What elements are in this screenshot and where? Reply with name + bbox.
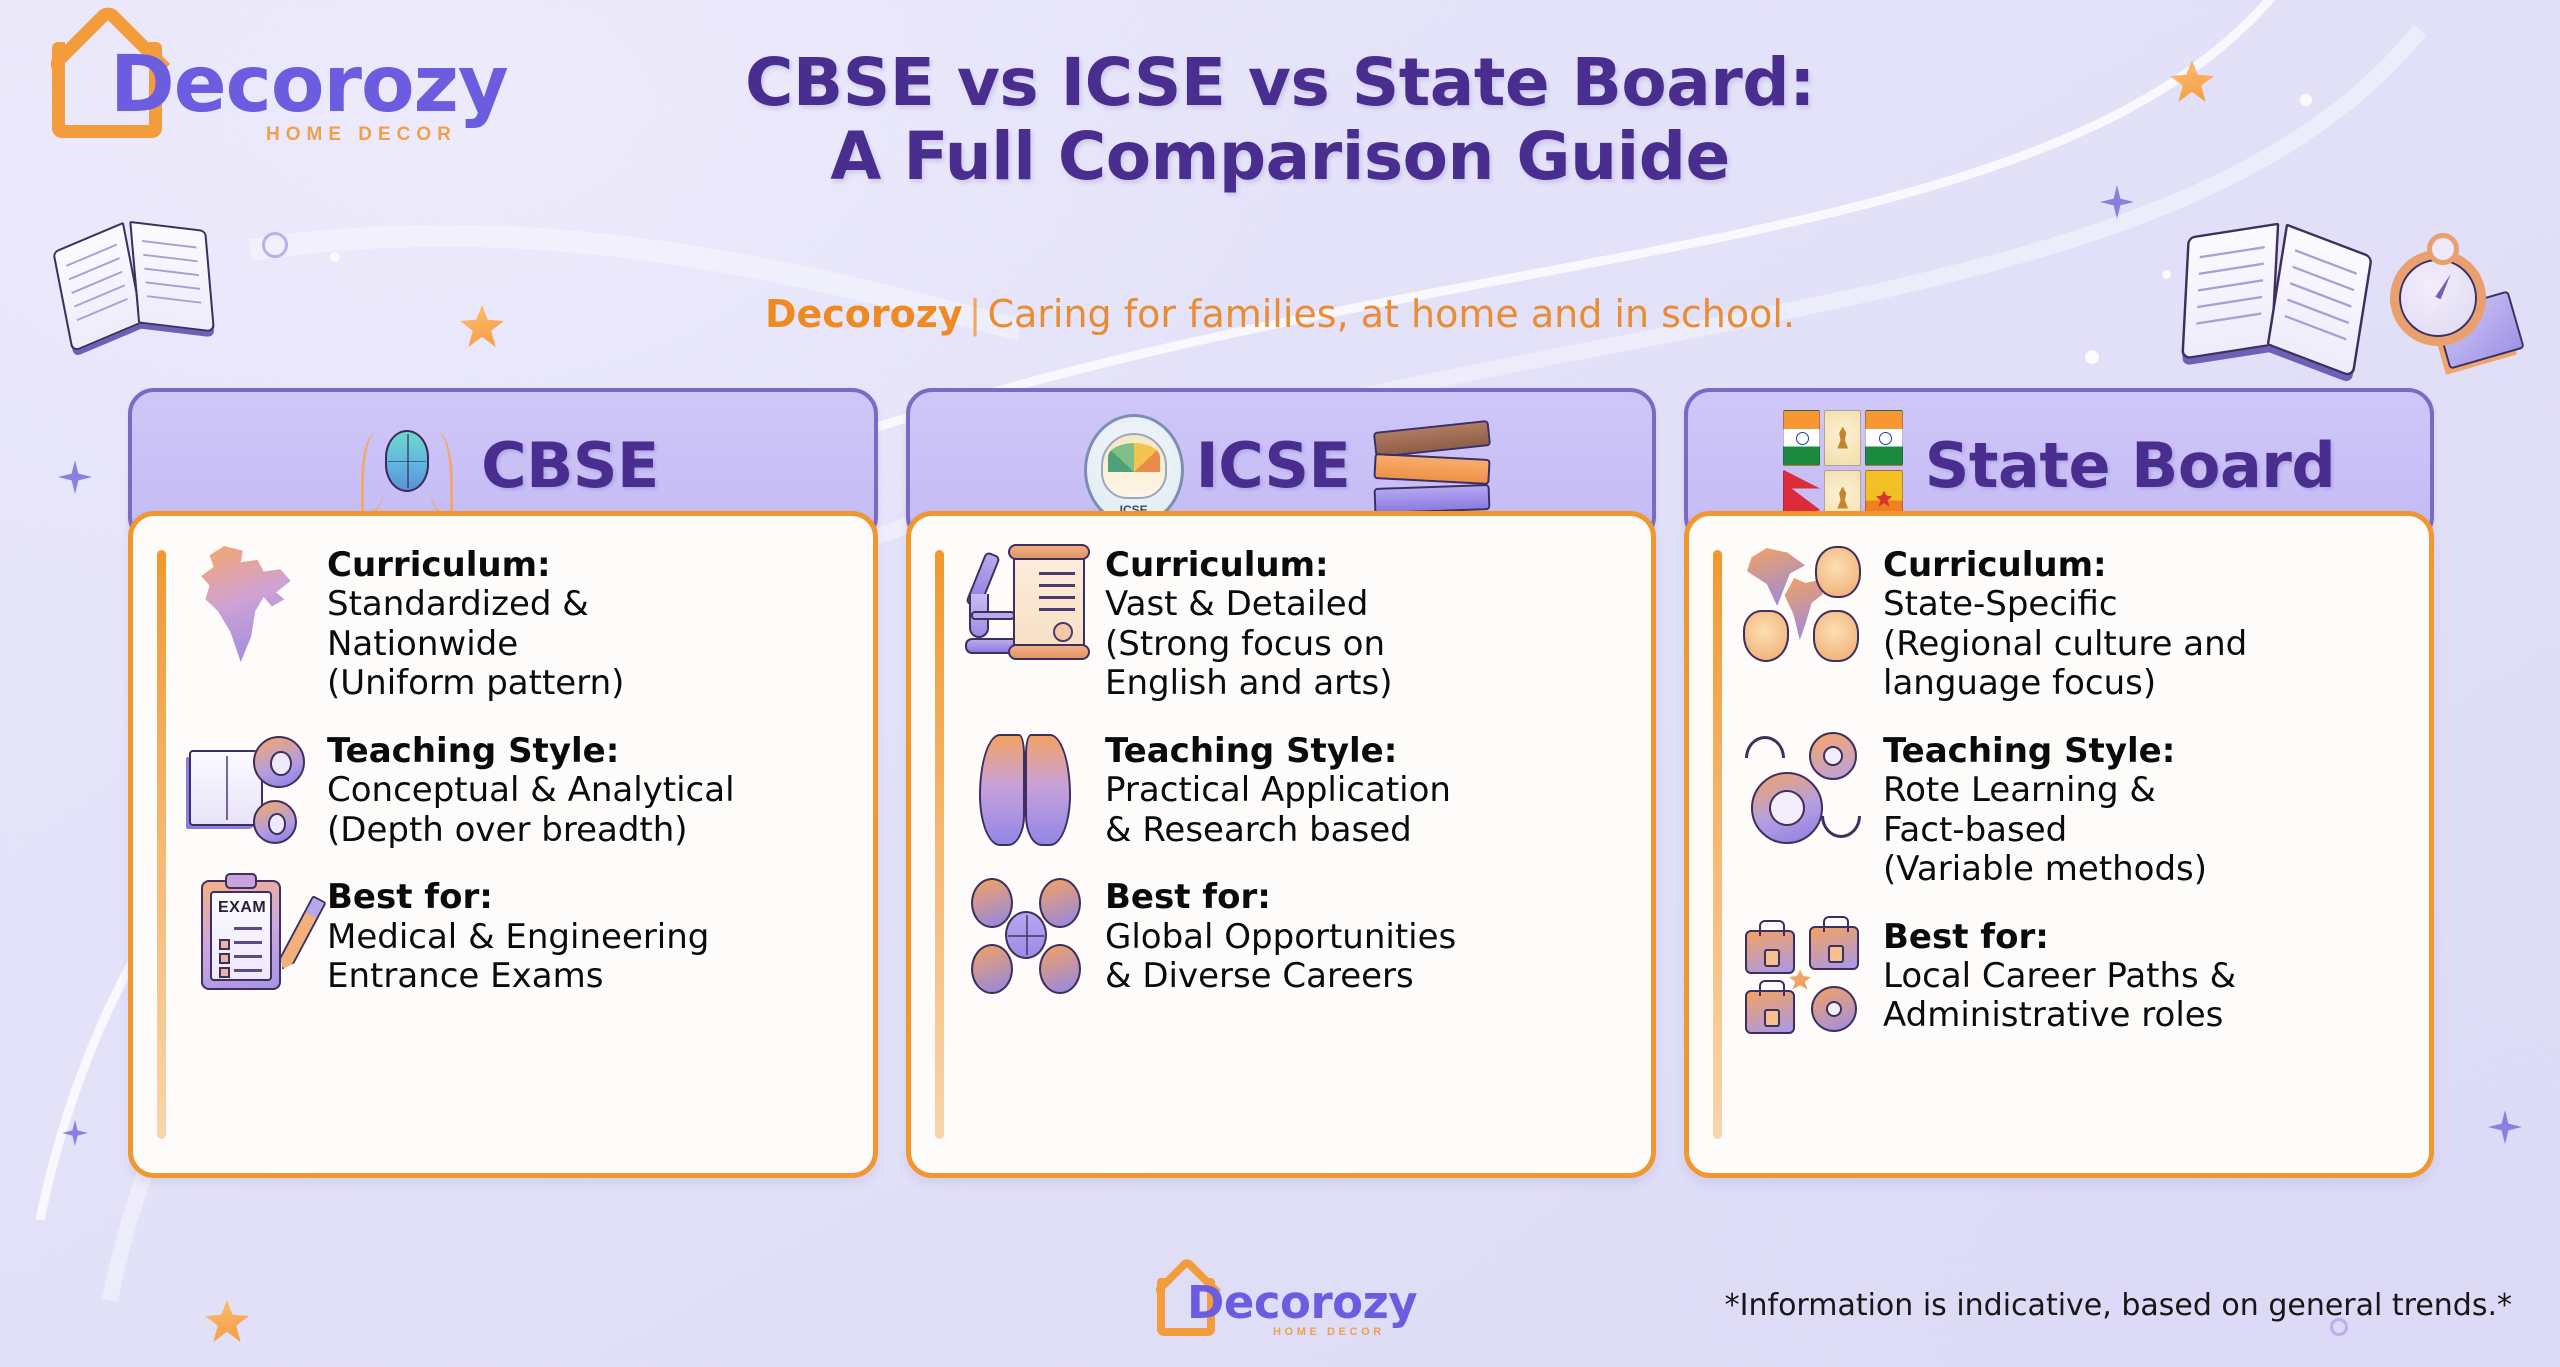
card-cbse-body: Curriculum: Standardized & Nationwide (U… (128, 511, 878, 1178)
footer-brand-tagline: HOME DECOR (1273, 1326, 1385, 1338)
page-subtitle: Decorozy|Caring for families, at home an… (500, 292, 2060, 336)
footer-brand-name: Decorozy (1187, 1276, 1417, 1329)
page-title: CBSE vs ICSE vs State Board: A Full Comp… (500, 46, 2060, 194)
microscope-scroll-icon (965, 544, 1085, 664)
row-value: Medical & Engineering Entrance Exams (327, 918, 709, 997)
row-value: Rote Learning & Fact-based (Variable met… (1883, 771, 2207, 889)
card-cbse-row-teaching-style: Teaching Style: Conceptual & Analytical … (153, 724, 847, 856)
brand-name: Decorozy (110, 40, 508, 130)
exam-clipboard-icon: EXAM (187, 876, 307, 996)
page-title-line-2: A Full Comparison Guide (500, 120, 2060, 194)
subtitle-text: Caring for families, at home and in scho… (987, 292, 1795, 336)
row-label: Curriculum: (1105, 546, 1392, 585)
laurel-globe-emblem-icon (351, 422, 463, 526)
icse-seal-emblem-icon: ICSE (1084, 414, 1184, 526)
row-label: Curriculum: (1883, 546, 2247, 585)
row-value: Local Career Paths & Administrative role… (1883, 957, 2236, 1036)
card-icse-body: Curriculum: Vast & Detailed (Strong focu… (906, 511, 1656, 1178)
row-value: Global Opportunities & Diverse Careers (1105, 918, 1456, 997)
footer-brand-logo[interactable]: Decorozy HOME DECOR (1155, 1270, 1415, 1362)
card-icse-title: ICSE (1196, 429, 1351, 502)
card-cbse-title: CBSE (481, 429, 659, 502)
card-state-board-body: Curriculum: State-Specific (Regional cul… (1684, 511, 2434, 1178)
card-cbse[interactable]: CBSE Curriculum: Standardized & Nationwi… (128, 388, 878, 1178)
card-icse-row-best-for: Best for: Global Opportunities & Diverse… (931, 870, 1625, 1002)
briefcases-gear-icon (1743, 916, 1863, 1036)
brain-network-icon (965, 730, 1085, 850)
card-icse[interactable]: ICSE ICSE Curriculum: Vast & Detailed (S… (906, 388, 1656, 1178)
card-icse-row-curriculum: Curriculum: Vast & Detailed (Strong focu… (931, 538, 1625, 710)
rotating-gears-icon (1743, 730, 1863, 850)
accent-bar (1713, 550, 1722, 1139)
brand-logo[interactable]: Decorozy HOME DECOR (48, 28, 478, 148)
card-state-board-row-curriculum: Curriculum: State-Specific (Regional cul… (1709, 538, 2403, 710)
accent-bar (935, 550, 944, 1139)
row-value: Standardized & Nationwide (Uniform patte… (327, 585, 624, 703)
state-emblem-icon (1824, 410, 1861, 466)
page-title-line-1: CBSE vs ICSE vs State Board: (500, 46, 2060, 120)
card-state-board-row-best-for: Best for: Local Career Paths & Administr… (1709, 910, 2403, 1042)
brand-tagline: HOME DECOR (266, 124, 457, 146)
subtitle-brand: Decorozy (765, 292, 963, 336)
state-maps-emblems-icon (1743, 544, 1863, 664)
card-icse-row-teaching-style: Teaching Style: Practical Application & … (931, 724, 1625, 856)
row-label: Teaching Style: (1105, 732, 1451, 771)
global-careers-icon (965, 876, 1085, 996)
row-value: Vast & Detailed (Strong focus on English… (1105, 585, 1392, 703)
subtitle-separator: | (963, 292, 988, 336)
india-flag-icon (1865, 410, 1902, 466)
state-flags-emblems-icon (1783, 410, 1903, 526)
row-label: Teaching Style: (1883, 732, 2207, 771)
card-cbse-row-curriculum: Curriculum: Standardized & Nationwide (U… (153, 538, 847, 710)
card-state-board-row-teaching-style: Teaching Style: Rote Learning & Fact-bas… (1709, 724, 2403, 896)
india-flag-icon (1783, 410, 1820, 466)
comparison-cards: CBSE Curriculum: Standardized & Nationwi… (128, 388, 2434, 1178)
row-value: Practical Application & Research based (1105, 771, 1451, 850)
row-label: Teaching Style: (327, 732, 735, 771)
row-label: Best for: (1105, 878, 1456, 917)
accent-bar (157, 550, 166, 1139)
book-gears-icon (187, 730, 307, 850)
row-label: Best for: (327, 878, 709, 917)
row-value: State-Specific (Regional culture and lan… (1883, 585, 2247, 703)
card-state-board-title: State Board (1925, 429, 2336, 502)
row-value: Conceptual & Analytical (Depth over brea… (327, 771, 735, 850)
india-map-icon (187, 544, 307, 664)
row-label: Best for: (1883, 918, 2236, 957)
card-cbse-row-best-for: EXAM Best for: Medical & Engineering Ent… (153, 870, 847, 1002)
card-state-board[interactable]: State Board Curriculum: State-Specific (… (1684, 388, 2434, 1178)
row-label: Curriculum: (327, 546, 624, 585)
disclaimer-text: *Information is indicative, based on gen… (1725, 1288, 2512, 1323)
